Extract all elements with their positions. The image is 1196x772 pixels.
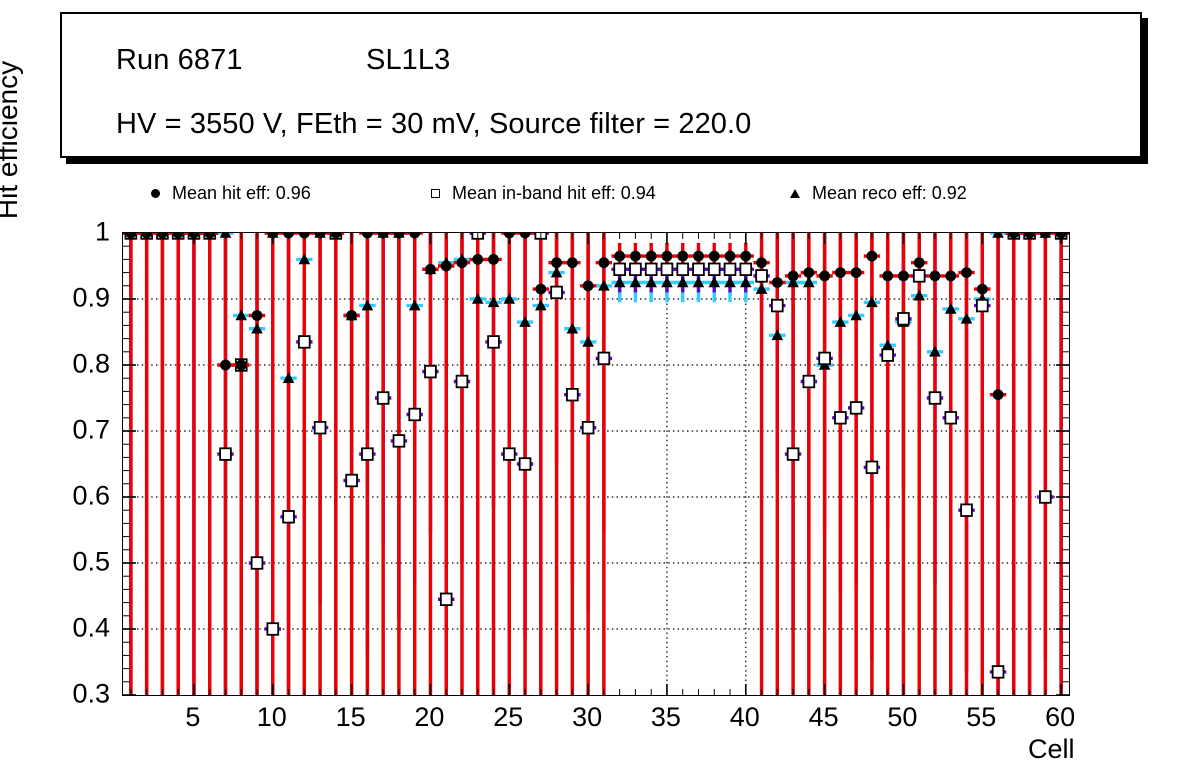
- x-tick-label: 60: [1045, 702, 1075, 733]
- x-tick-label: 40: [730, 702, 760, 733]
- title-line-settings: HV = 3550 V, FEth = 30 mV, Source filter…: [116, 108, 751, 141]
- x-tick-label: 50: [887, 702, 917, 733]
- filled-circle-icon: [138, 189, 172, 198]
- x-tick-label: 55: [966, 702, 996, 733]
- x-tick-label: 5: [185, 702, 200, 733]
- legend-entry-hit-eff: Mean hit eff: 0.96: [138, 176, 311, 210]
- superlayer-label: SL1L3: [366, 44, 450, 77]
- legend-label-reco-eff: Mean reco eff: 0.92: [812, 183, 967, 204]
- x-tick-label: 25: [493, 702, 523, 733]
- x-tick-label: 20: [414, 702, 444, 733]
- legend-entry-reco-eff: Mean reco eff: 0.92: [778, 176, 967, 210]
- run-label: Run 6871: [116, 44, 243, 77]
- legend-label-inband-hit-eff: Mean in-band hit eff: 0.94: [452, 183, 656, 204]
- x-tick-label: 45: [809, 702, 839, 733]
- legend-entry-inband-hit-eff: Mean in-band hit eff: 0.94: [418, 176, 656, 210]
- legend-label-hit-eff: Mean hit eff: 0.96: [172, 183, 311, 204]
- open-square-icon: [418, 189, 452, 198]
- legend: Mean hit eff: 0.96 Mean in-band hit eff:…: [118, 176, 1078, 210]
- title-box: Run 6871 SL1L3 HV = 3550 V, FEth = 30 mV…: [60, 12, 1142, 158]
- x-tick-label: 10: [257, 702, 287, 733]
- x-tick-label: 30: [572, 702, 602, 733]
- x-tick-label: 15: [336, 702, 366, 733]
- filled-triangle-icon: [778, 189, 812, 198]
- x-tick-label: 35: [651, 702, 681, 733]
